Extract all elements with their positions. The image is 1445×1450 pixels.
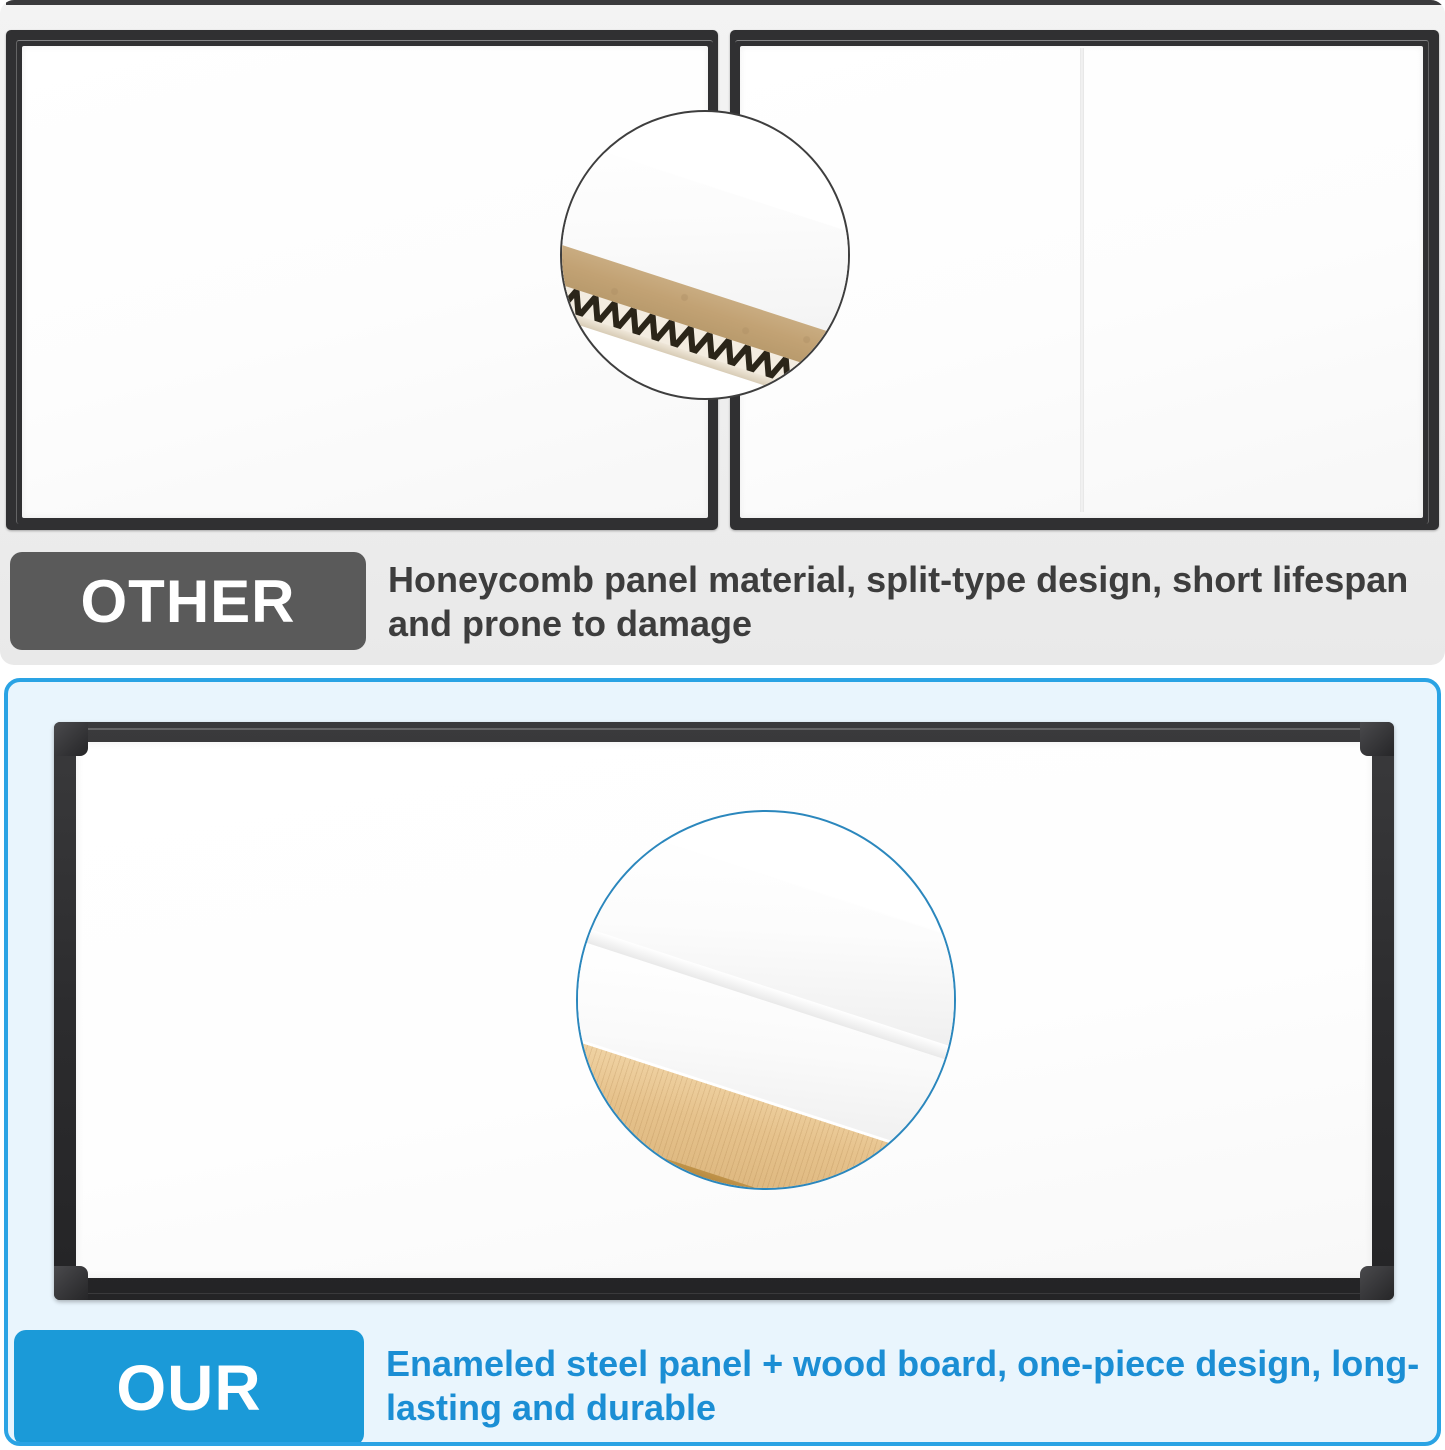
product-comparison-image: OTHER Honeycomb panel material, split-ty… [0, 0, 1445, 1450]
other-description: Honeycomb panel material, split-type des… [366, 552, 1445, 646]
honeycomb-detail-circle [560, 110, 850, 400]
other-badge-label: OTHER [81, 567, 296, 636]
our-label-row: OUR Enameled steel panel + wood board, o… [8, 1330, 1441, 1446]
our-badge-label: OUR [116, 1351, 261, 1425]
other-panel-top-edge [6, 0, 1445, 5]
frame-corner-top-right [1360, 722, 1394, 756]
our-badge: OUR [14, 1330, 364, 1446]
layered-panel-detail-circle [576, 810, 956, 1190]
other-badge: OTHER [10, 552, 366, 650]
our-description: Enameled steel panel + wood board, one-p… [364, 1330, 1441, 1430]
frame-corner-bottom-left [54, 1266, 88, 1300]
other-comparison-panel: OTHER Honeycomb panel material, split-ty… [0, 0, 1445, 665]
other-label-row: OTHER Honeycomb panel material, split-ty… [0, 552, 1445, 662]
our-comparison-panel: OUR Enameled steel panel + wood board, o… [4, 678, 1441, 1446]
frame-corner-top-left [54, 722, 88, 756]
other-panel-seam-line [1080, 48, 1084, 512]
frame-corner-bottom-right [1360, 1266, 1394, 1300]
